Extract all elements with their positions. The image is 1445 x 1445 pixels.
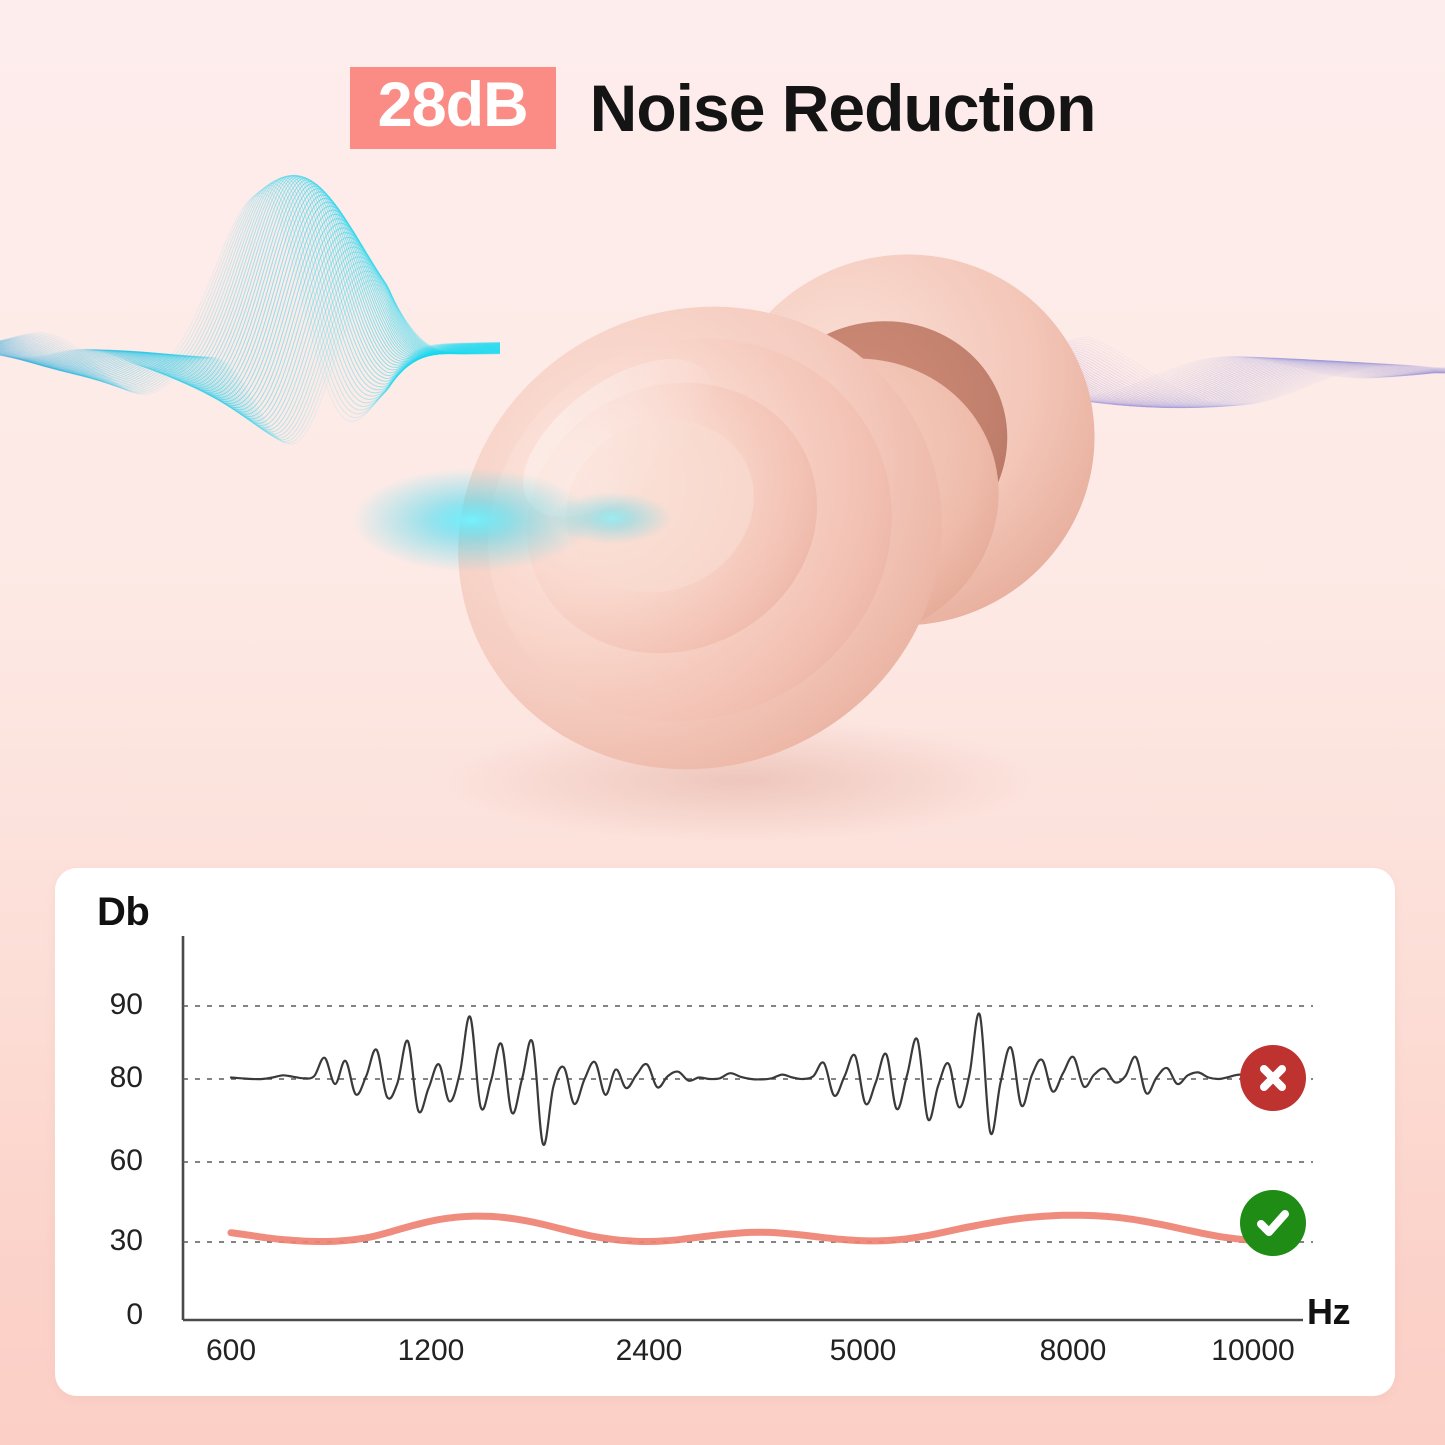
- db-badge: 28dB: [350, 67, 556, 149]
- check-mark-badge: [1240, 1190, 1306, 1256]
- gridlines: [183, 1006, 1313, 1242]
- chart-card: Db Hz 90 80 60 30 0 600 1200 2400 5000 8…: [55, 868, 1395, 1396]
- wave-glow-inner: [552, 492, 672, 544]
- series-reduced-noise: [231, 1215, 1271, 1241]
- product-infographic: 28dB Noise Reduction: [0, 0, 1445, 1445]
- page-title: Noise Reduction: [590, 75, 1096, 141]
- hero-svg: [0, 170, 1445, 860]
- cross-mark-badge: [1240, 1045, 1306, 1111]
- check-icon: [1252, 1202, 1294, 1244]
- left-soundwave: [0, 175, 500, 444]
- hero-illustration: [0, 170, 1445, 860]
- header: 28dB Noise Reduction: [0, 58, 1445, 158]
- plot-area: [55, 868, 1395, 1396]
- close-icon: [1253, 1058, 1293, 1098]
- right-soundwave: [1030, 337, 1445, 408]
